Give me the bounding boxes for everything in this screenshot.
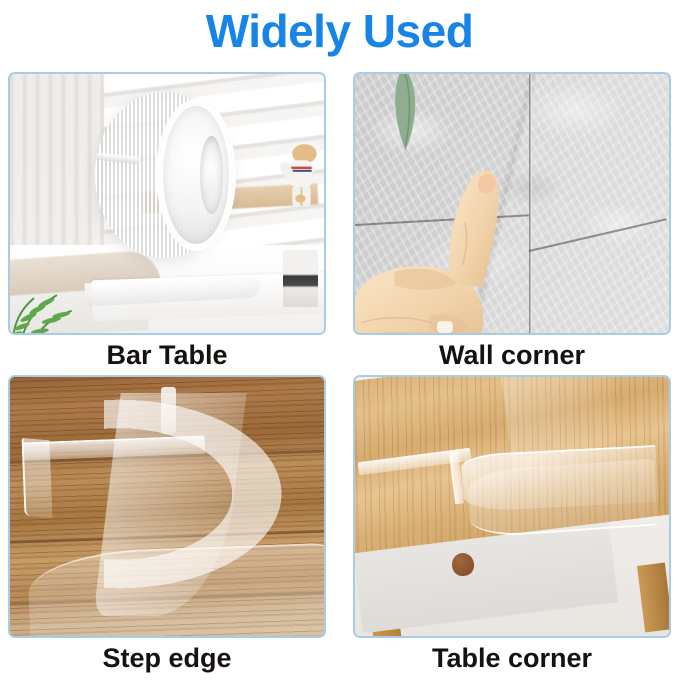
photo-wall-corner [353,72,671,335]
astronaut-figurine [280,141,321,229]
scene-table-corner [355,377,669,636]
tape-roll-face [156,99,236,251]
feature-card-table-corner: Table corner [353,375,671,675]
product-feature-graphic: Widely Used [0,0,679,683]
product-box [283,250,318,307]
tape-curve-top-fold [161,387,177,434]
fern-plant-icon [8,266,85,335]
feature-card-step-edge: Step edge [8,375,326,675]
caption-table-corner: Table corner [353,638,671,675]
scene-step-edge [10,377,324,636]
page-title: Widely Used [0,2,679,60]
feature-card-wall-corner: Wall corner [353,72,671,372]
feature-card-bar-table: Bar Table [8,72,326,372]
scene-bar-table [10,74,324,333]
pointing-hand [353,141,531,335]
tape-roll-loose-end [96,153,141,164]
green-leaf-icon [383,72,424,152]
scene-wall-corner [355,74,669,333]
feature-grid: Bar Table [8,72,671,677]
tape-roll-core-hole [200,136,224,214]
photo-step-edge [8,375,326,638]
photo-table-corner [353,375,671,638]
caption-bar-table: Bar Table [8,335,326,372]
tape-roll [95,92,233,258]
caption-step-edge: Step edge [8,638,326,675]
caption-wall-corner: Wall corner [353,335,671,372]
photo-bar-table [8,72,326,335]
tape-curve-highlight [104,393,292,595]
